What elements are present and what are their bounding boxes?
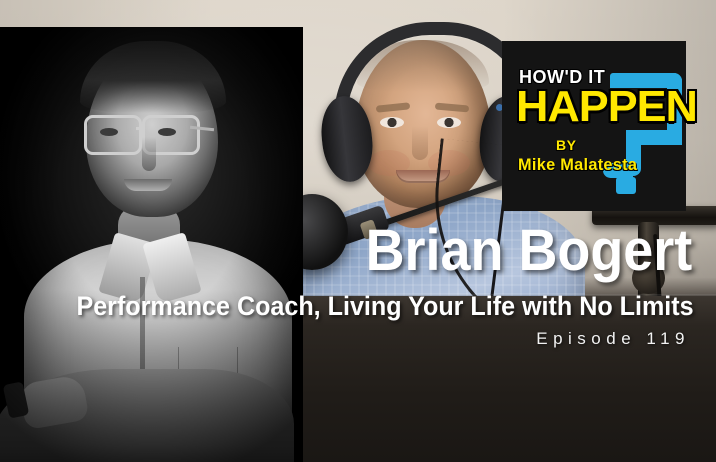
logo-by-label: BY: [556, 137, 576, 153]
logo-inner: HOW'D IT HAPPEN BY Mike Malatesta: [502, 41, 686, 211]
logo-line-happen: HAPPEN: [516, 85, 697, 129]
question-mark-dot: [616, 177, 636, 194]
guest-name-title: Brian Bogert: [365, 222, 692, 280]
episode-cover-image: HOW'D IT HAPPEN BY Mike Malatesta Brian …: [0, 0, 716, 462]
podcast-logo-badge: HOW'D IT HAPPEN BY Mike Malatesta: [502, 41, 686, 211]
logo-host-name: Mike Malatesta: [518, 155, 637, 175]
guest-tagline: Performance Coach, Living Your Life with…: [77, 291, 694, 321]
guest-portrait-photo: [0, 27, 303, 462]
portrait-vignette: [0, 27, 303, 462]
episode-number-label: Episode 119: [536, 329, 690, 349]
